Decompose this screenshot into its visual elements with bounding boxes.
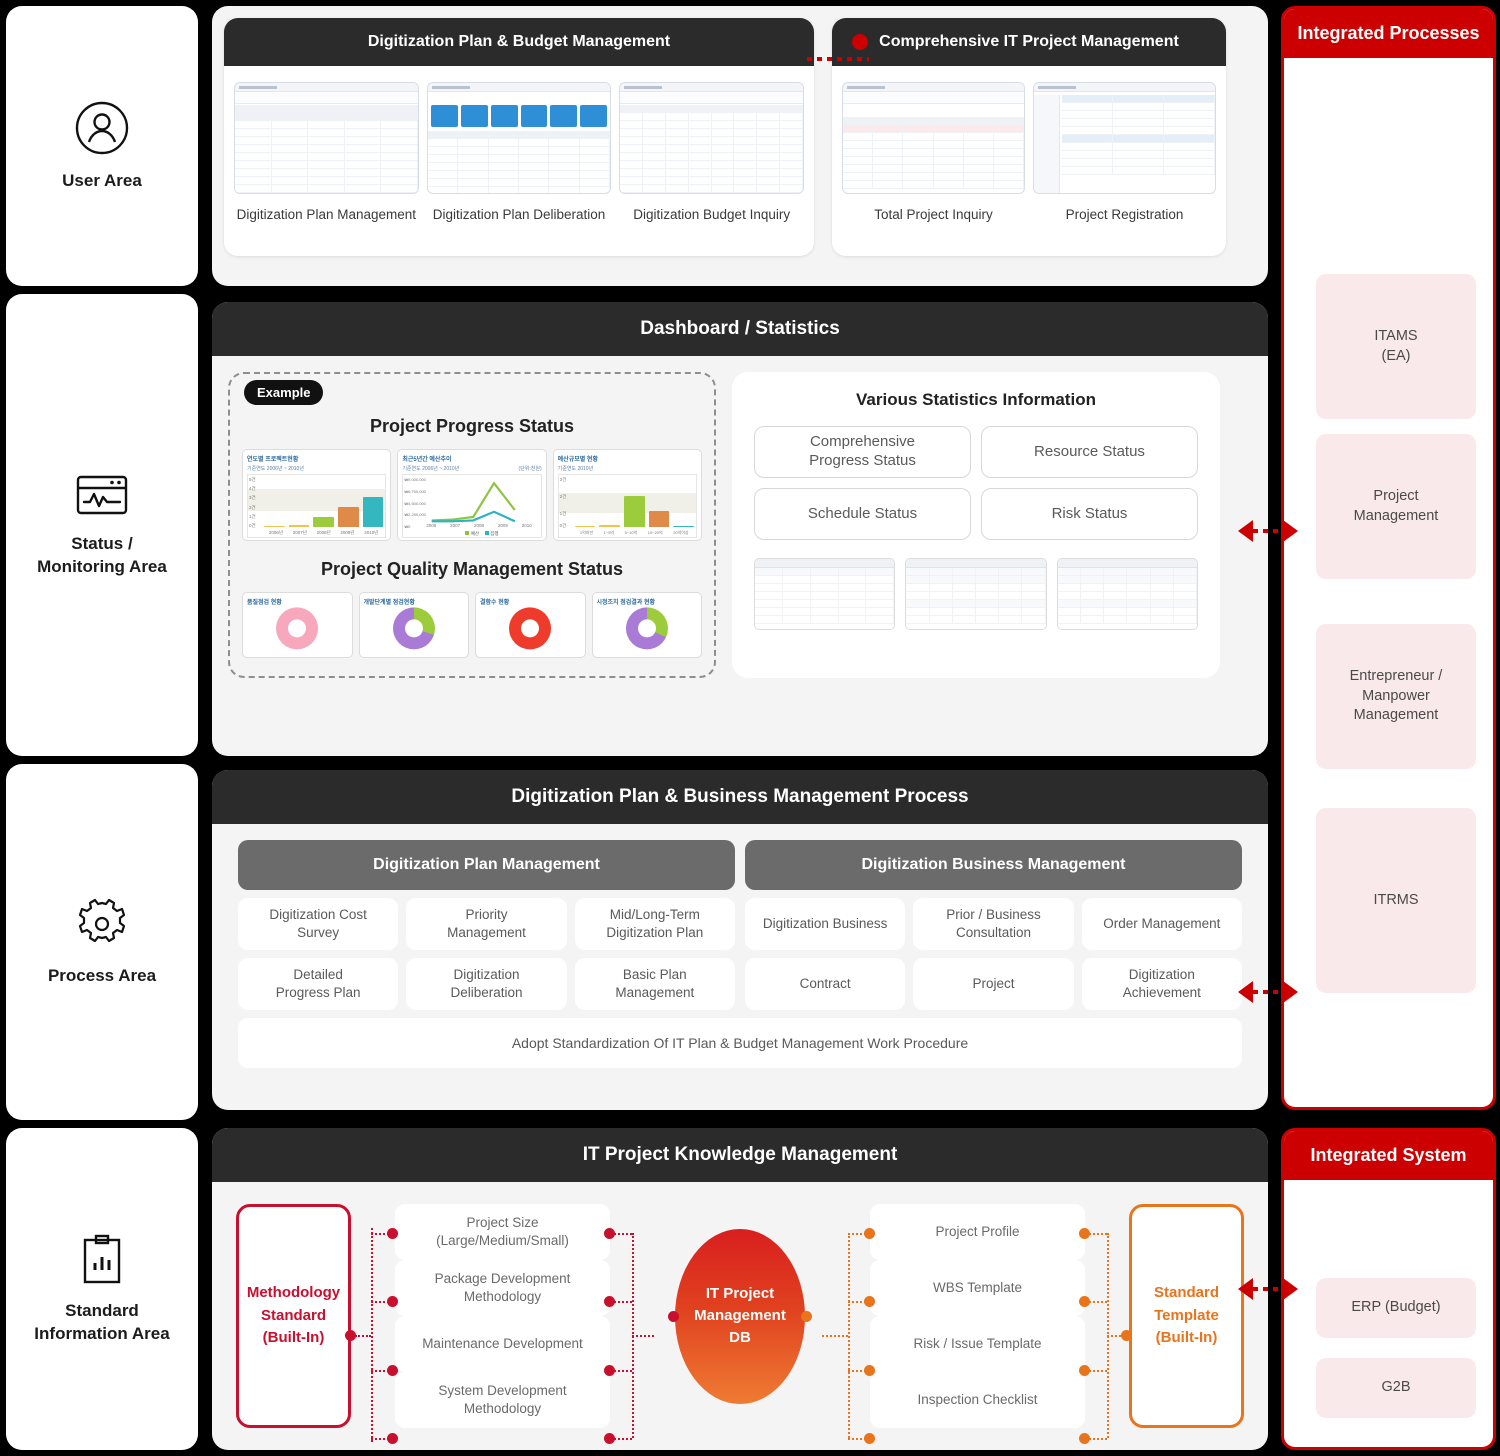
connector-dot (801, 1311, 812, 1322)
connector-dot (864, 1228, 875, 1239)
x-axis-ticks: 20062007200820092010 (419, 523, 538, 528)
thumbnail-digitization-plan-deliberation (427, 82, 612, 194)
chart-unit-label: (단위:천원) (519, 465, 542, 472)
process-cell-digitization-cost-survey[interactable]: Digitization Cost Survey (238, 898, 398, 950)
knowledge-item-risk-issue-template[interactable]: Risk / Issue Template (870, 1316, 1085, 1372)
area-label: Standard Information Area (34, 1300, 169, 1346)
screenshot-caption: Digitization Plan Deliberation (427, 206, 612, 224)
stat-button-comprehensive-progress-status[interactable]: Comprehensive Progress Status (754, 426, 971, 478)
arrow-left-icon (1238, 1278, 1253, 1300)
arrow-right-icon (1283, 520, 1298, 542)
knowledge-item-maintenance-development[interactable]: Maintenance Development (395, 1316, 610, 1372)
process-body: Digitization Plan Management Digitizatio… (212, 824, 1268, 1090)
arrow-left-icon (1238, 981, 1253, 1003)
arrow-right-icon (1283, 1278, 1298, 1300)
process-cells: Digitization Cost Survey Priority Manage… (238, 898, 735, 1010)
bars (264, 479, 383, 527)
connector-dot (387, 1296, 398, 1307)
card-title-text: Comprehensive IT Project Management (879, 33, 1179, 50)
it-project-management-db[interactable]: IT Project Management DB (675, 1229, 805, 1404)
integrated-process-itrms[interactable]: ITRMS (1316, 808, 1476, 993)
connector-dot (387, 1433, 398, 1444)
stat-button-risk-status[interactable]: Risk Status (981, 488, 1198, 540)
process-cell-order-management[interactable]: Order Management (1082, 898, 1242, 950)
mini-chart-caption: 예산규모별 현황 (558, 454, 697, 463)
area-card-status-monitoring: Status / Monitoring Area (6, 294, 198, 756)
area-label: Process Area (48, 965, 156, 988)
process-cell-contract[interactable]: Contract (745, 958, 905, 1010)
panel-title: IT Project Knowledge Management (212, 1128, 1268, 1182)
knowledge-item-inspection-checklist[interactable]: Inspection Checklist (870, 1372, 1085, 1428)
mini-chart-row: 연도별 프로젝트현황 기준연도 2006년 ~ 2010년 5건4건3건2건1건… (242, 449, 702, 541)
connector-dashboard-to-project-management (1238, 520, 1298, 542)
example-dashboard-box: Example Project Progress Status 연도별 프로젝트… (228, 372, 716, 678)
process-footer-note: Adopt Standardization Of IT Plan & Budge… (238, 1018, 1242, 1068)
example-badge: Example (244, 380, 323, 405)
screenshot-row: Digitization Plan Management (224, 66, 814, 230)
mini-chart-caption: 연도별 프로젝트현황 (247, 454, 386, 463)
integrated-system-g2b[interactable]: G2B (1316, 1358, 1476, 1418)
panel-title: Digitization Plan & Business Management … (212, 770, 1268, 824)
stat-button-resource-status[interactable]: Resource Status (981, 426, 1198, 478)
user-area-cards: Digitization Plan & Budget Management (212, 6, 1268, 268)
knowledge-item-wbs-template[interactable]: WBS Template (870, 1260, 1085, 1316)
connector-dash (1253, 529, 1283, 533)
chart-group-title: Project Progress Status (242, 416, 702, 437)
pillar-methodology-standard[interactable]: Methodology Standard (Built-In) (236, 1204, 351, 1428)
process-column-plan-management: Digitization Plan Management Digitizatio… (238, 840, 735, 1010)
donut-chart-card[interactable]: 품질점검 현황 (242, 592, 353, 658)
process-column-business-management: Digitization Business Management Digitiz… (745, 840, 1242, 1010)
mini-chart-subtitle: 기준연도 2006년 ~ 2010년 (247, 465, 386, 472)
side-panel-title: Integrated Processes (1284, 9, 1493, 58)
screenshot-caption: Digitization Budget Inquiry (619, 206, 804, 224)
mini-table[interactable] (754, 558, 895, 630)
integrated-process-itams[interactable]: ITAMS (EA) (1316, 274, 1476, 419)
panel-process-area: Digitization Plan & Business Management … (212, 770, 1268, 1110)
mini-table[interactable] (905, 558, 1046, 630)
donut-caption: 개발단계별 점검현황 (364, 597, 465, 606)
bar-chart-yearly-projects: 5건4건3건2건1건0건 2006년2007년2008년2009년2010년 (247, 474, 386, 538)
donut-chart-card[interactable]: 개발단계별 점검현황 (359, 592, 470, 658)
header-connector-dotted (807, 57, 869, 61)
chart-group-title: Project Quality Management Status (242, 559, 702, 580)
screenshot-row: Total Project Inquiry (832, 66, 1226, 230)
donut-caption: 결함수 현황 (480, 597, 581, 606)
mini-chart-subtitle: 기준연도 2010년 (558, 465, 697, 472)
arrow-right-icon (1283, 981, 1298, 1003)
integrated-process-project-management[interactable]: Project Management (1316, 434, 1476, 579)
donut-corrective-action (626, 607, 668, 649)
connector-dot (1121, 1330, 1132, 1341)
process-cell-basic-plan-management[interactable]: Basic Plan Management (575, 958, 735, 1010)
thumbnail-digitization-plan-management (234, 82, 419, 194)
line-series (430, 478, 517, 523)
process-column-title: Digitization Business Management (745, 840, 1242, 890)
statistics-buttons: Comprehensive Progress Status Resource S… (754, 426, 1198, 540)
connector-dot (387, 1228, 398, 1239)
donut-chart-row: 품질점검 현황 개발단계별 점검현황 결함수 현황 시정조치 점검결과 현황 (242, 592, 702, 658)
process-cell-project[interactable]: Project (913, 958, 1073, 1010)
connector-dot (668, 1311, 679, 1322)
statistics-box: Various Statistics Information Comprehen… (732, 372, 1220, 678)
connector-process-to-itrms (1238, 981, 1298, 1003)
y-axis-ticks: 3건2건1건0건 (560, 477, 567, 529)
x-axis-ticks: 1억미만1~5억5~10억10~20억20억이상 (575, 530, 694, 536)
donut-stage-inspection (393, 607, 435, 649)
process-cell-digitization-achievement[interactable]: Digitization Achievement (1082, 958, 1242, 1010)
process-cell-prior-business-consultation[interactable]: Prior / Business Consultation (913, 898, 1073, 950)
mini-chart-card[interactable]: 연도별 프로젝트현황 기준연도 2006년 ~ 2010년 5건4건3건2건1건… (242, 449, 391, 541)
panel-integrated-processes: Integrated Processes ITAMS (EA) Project … (1281, 6, 1496, 1110)
donut-caption: 시정조치 점검결과 현황 (597, 597, 698, 606)
connector-dot (864, 1365, 875, 1376)
bars (575, 479, 694, 527)
thumbnail-total-project-inquiry (842, 82, 1025, 194)
user-icon (74, 100, 130, 156)
mini-chart-card[interactable]: 최근5년간 예산추이 기준연도 2006년 ~ 2010년 (단위:천원) ₩9… (397, 449, 546, 541)
side-panel-title: Integrated System (1284, 1131, 1493, 1180)
integrated-system-erp-budget[interactable]: ERP (Budget) (1316, 1278, 1476, 1338)
diagram-root: User Area Status / Monitoring Area Proce… (0, 0, 1500, 1456)
thumbnail-project-registration (1033, 82, 1216, 194)
arrow-left-icon (1238, 520, 1253, 542)
screenshot-caption: Digitization Plan Management (234, 206, 419, 224)
process-cell-mid-long-term-plan[interactable]: Mid/Long-Term Digitization Plan (575, 898, 735, 950)
area-label: Status / Monitoring Area (37, 533, 167, 579)
connector-dash (1253, 990, 1283, 994)
knowledge-item-project-profile[interactable]: Project Profile (870, 1204, 1085, 1260)
mini-table[interactable] (1057, 558, 1198, 630)
screenshot-item[interactable]: Digitization Budget Inquiry (619, 82, 804, 224)
mini-chart-caption: 최근5년간 예산추이 (402, 454, 541, 463)
card-title: Digitization Plan & Budget Management (224, 18, 814, 66)
panel-dashboard-statistics: Dashboard / Statistics Example Project P… (212, 302, 1268, 756)
db-to-right-connector (826, 1204, 870, 1428)
bar-chart-budget-scale: 3건2건1건0건 1억미만1~5억5~10억10~20억20억이상 (558, 474, 697, 538)
donut-defect-count (509, 607, 551, 649)
donut-chart-card[interactable]: 결함수 현황 (475, 592, 586, 658)
panel-integrated-system: Integrated System ERP (Budget) G2B (1281, 1128, 1496, 1450)
knowledge-item-project-size[interactable]: Project Size (Large/Medium/Small) (395, 1204, 610, 1260)
integrated-system-items: ERP (Budget) G2B (1284, 1180, 1493, 1450)
connector-dot (864, 1296, 875, 1307)
panel-knowledge-management: IT Project Knowledge Management Methodol… (212, 1128, 1268, 1450)
knowledge-item-system-development-methodology[interactable]: System Development Methodology (395, 1372, 610, 1428)
area-card-standard-info: Standard Information Area (6, 1128, 198, 1450)
y-axis-ticks: ₩9,000,000₩6,750,000₩4,500,000₩2,250,000… (404, 477, 426, 529)
knowledge-item-package-development-methodology[interactable]: Package Development Methodology (395, 1260, 610, 1316)
x-axis-ticks: 2006년2007년2008년2009년2010년 (264, 530, 383, 536)
chart-legend: 예산 집행 (427, 531, 536, 537)
connector-dot (864, 1433, 875, 1444)
screenshot-caption: Total Project Inquiry (842, 206, 1025, 224)
screenshot-caption: Project Registration (1033, 206, 1216, 224)
stat-button-schedule-status[interactable]: Schedule Status (754, 488, 971, 540)
screenshot-item[interactable]: Digitization Plan Deliberation (427, 82, 612, 224)
donut-caption: 품질점검 현황 (247, 597, 348, 606)
line-chart-budget-trend: ₩9,000,000₩6,750,000₩4,500,000₩2,250,000… (402, 474, 541, 538)
gear-icon (75, 897, 129, 951)
left-to-db-connector (610, 1204, 654, 1428)
mini-chart-card[interactable]: 예산규모별 현황 기준연도 2010년 3건2건1건0건 (553, 449, 702, 541)
mini-chart-subtitle: 기준연도 2006년 ~ 2010년 (단위:천원) (402, 465, 541, 472)
pillar-standard-template[interactable]: Standard Template (Built-In) (1129, 1204, 1244, 1428)
y-axis-ticks: 5건4건3건2건1건0건 (249, 477, 256, 529)
dashboard-body: Example Project Progress Status 연도별 프로젝트… (212, 356, 1268, 694)
area-card-user: User Area (6, 6, 198, 286)
connector-dot (387, 1365, 398, 1376)
process-cell-digitization-deliberation[interactable]: Digitization Deliberation (406, 958, 566, 1010)
red-dot-icon (852, 34, 868, 50)
process-cell-detailed-progress-plan[interactable]: Detailed Progress Plan (238, 958, 398, 1010)
process-cell-digitization-business[interactable]: Digitization Business (745, 898, 905, 950)
statistics-table-row (754, 558, 1198, 630)
thumbnail-digitization-budget-inquiry (619, 82, 804, 194)
statistics-title: Various Statistics Information (754, 390, 1198, 410)
right-connector-group (1085, 1204, 1129, 1428)
monitor-icon (74, 471, 130, 519)
connector-dash (1253, 1287, 1283, 1291)
screenshot-item[interactable]: Project Registration (1033, 82, 1216, 224)
knowledge-left-items: Project Size (Large/Medium/Small) Packag… (395, 1204, 610, 1428)
knowledge-right-items: Project Profile WBS Template Risk / Issu… (870, 1204, 1085, 1428)
process-cell-priority-management[interactable]: Priority Management (406, 898, 566, 950)
donut-chart-card[interactable]: 시정조치 점검결과 현황 (592, 592, 703, 658)
panel-title: Dashboard / Statistics (212, 302, 1268, 356)
card-digitization-plan-budget[interactable]: Digitization Plan & Budget Management (224, 18, 814, 256)
screenshot-item[interactable]: Total Project Inquiry (842, 82, 1025, 224)
donut-quality-inspection (276, 607, 318, 649)
left-connector-group (351, 1204, 395, 1428)
screenshot-item[interactable]: Digitization Plan Management (234, 82, 419, 224)
panel-user-area: Digitization Plan & Budget Management (212, 6, 1268, 286)
card-comprehensive-it-project-management[interactable]: Comprehensive IT Project Management (832, 18, 1226, 256)
process-column-title: Digitization Plan Management (238, 840, 735, 890)
integrated-processes-items: ITAMS (EA) Project Management Entreprene… (1284, 58, 1493, 1110)
area-card-process: Process Area (6, 764, 198, 1120)
connector-knowledge-to-erp (1238, 1278, 1298, 1300)
clipboard-chart-icon (78, 1232, 126, 1286)
knowledge-center: IT Project Management DB (654, 1204, 826, 1428)
card-title: Comprehensive IT Project Management (832, 18, 1226, 66)
process-cells: Digitization Business Prior / Business C… (745, 898, 1242, 1010)
area-label: User Area (62, 170, 142, 193)
knowledge-body: Methodology Standard (Built-In) Project (212, 1182, 1268, 1450)
integrated-process-entrepreneur-manpower[interactable]: Entrepreneur / Manpower Management (1316, 624, 1476, 769)
process-columns: Digitization Plan Management Digitizatio… (238, 840, 1242, 1010)
